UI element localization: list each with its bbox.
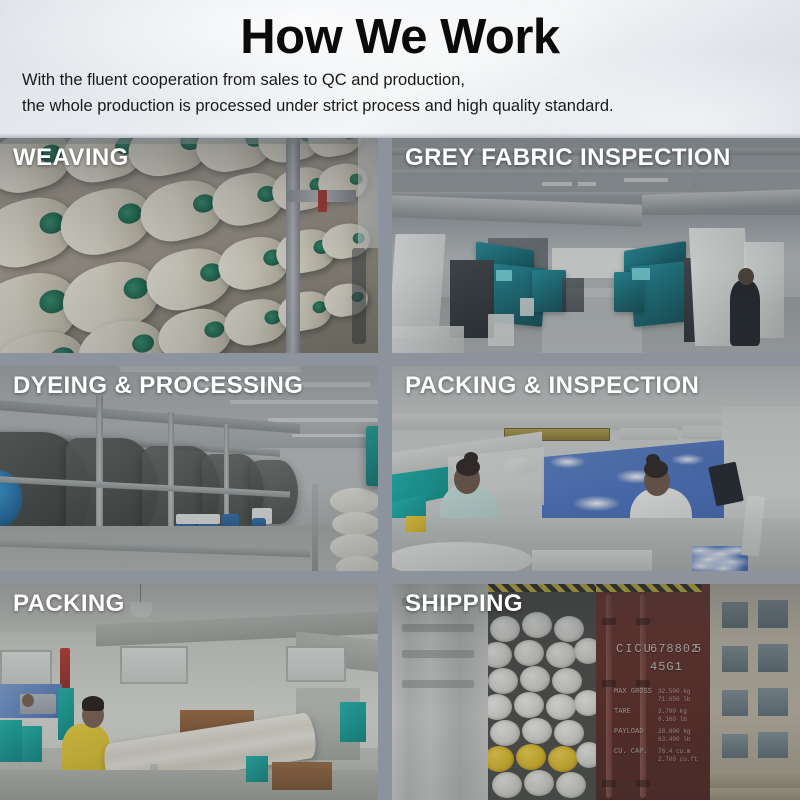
gallery-tile-weaving[interactable]: WEAVING xyxy=(0,138,378,353)
gallery-tile-packing[interactable]: PACKING xyxy=(0,584,378,800)
gallery-tile-shipping[interactable]: CICU 678802 5 45G1 MAX GROSS 32.500 kg 7… xyxy=(392,584,800,800)
how-we-work-page: How We Work With the fluent cooperation … xyxy=(0,0,800,800)
page-title: How We Work xyxy=(0,8,800,66)
gallery-tile-grey-fabric-inspection[interactable]: GREY FABRIC INSPECTION xyxy=(392,138,800,353)
tile-caption-weaving: WEAVING xyxy=(13,144,129,172)
gallery-tile-packing-inspection[interactable]: PACKING & INSPECTION xyxy=(392,366,800,571)
tile-caption-packing-inspection: PACKING & INSPECTION xyxy=(405,372,699,400)
header-subtitle-line-2: the whole production is processed under … xyxy=(22,96,614,117)
process-gallery-grid: WEAVING xyxy=(0,138,800,800)
gallery-tile-dyeing-processing[interactable]: DYEING & PROCESSING xyxy=(0,366,378,571)
tile-caption-shipping: SHIPPING xyxy=(405,590,523,618)
tile-caption-packing: PACKING xyxy=(13,590,125,618)
page-header: How We Work With the fluent cooperation … xyxy=(0,0,800,138)
tile-caption-grey-fabric-inspection: GREY FABRIC INSPECTION xyxy=(405,144,731,172)
header-subtitle-line-1: With the fluent cooperation from sales t… xyxy=(22,70,465,91)
tile-caption-dyeing-processing: DYEING & PROCESSING xyxy=(13,372,303,400)
